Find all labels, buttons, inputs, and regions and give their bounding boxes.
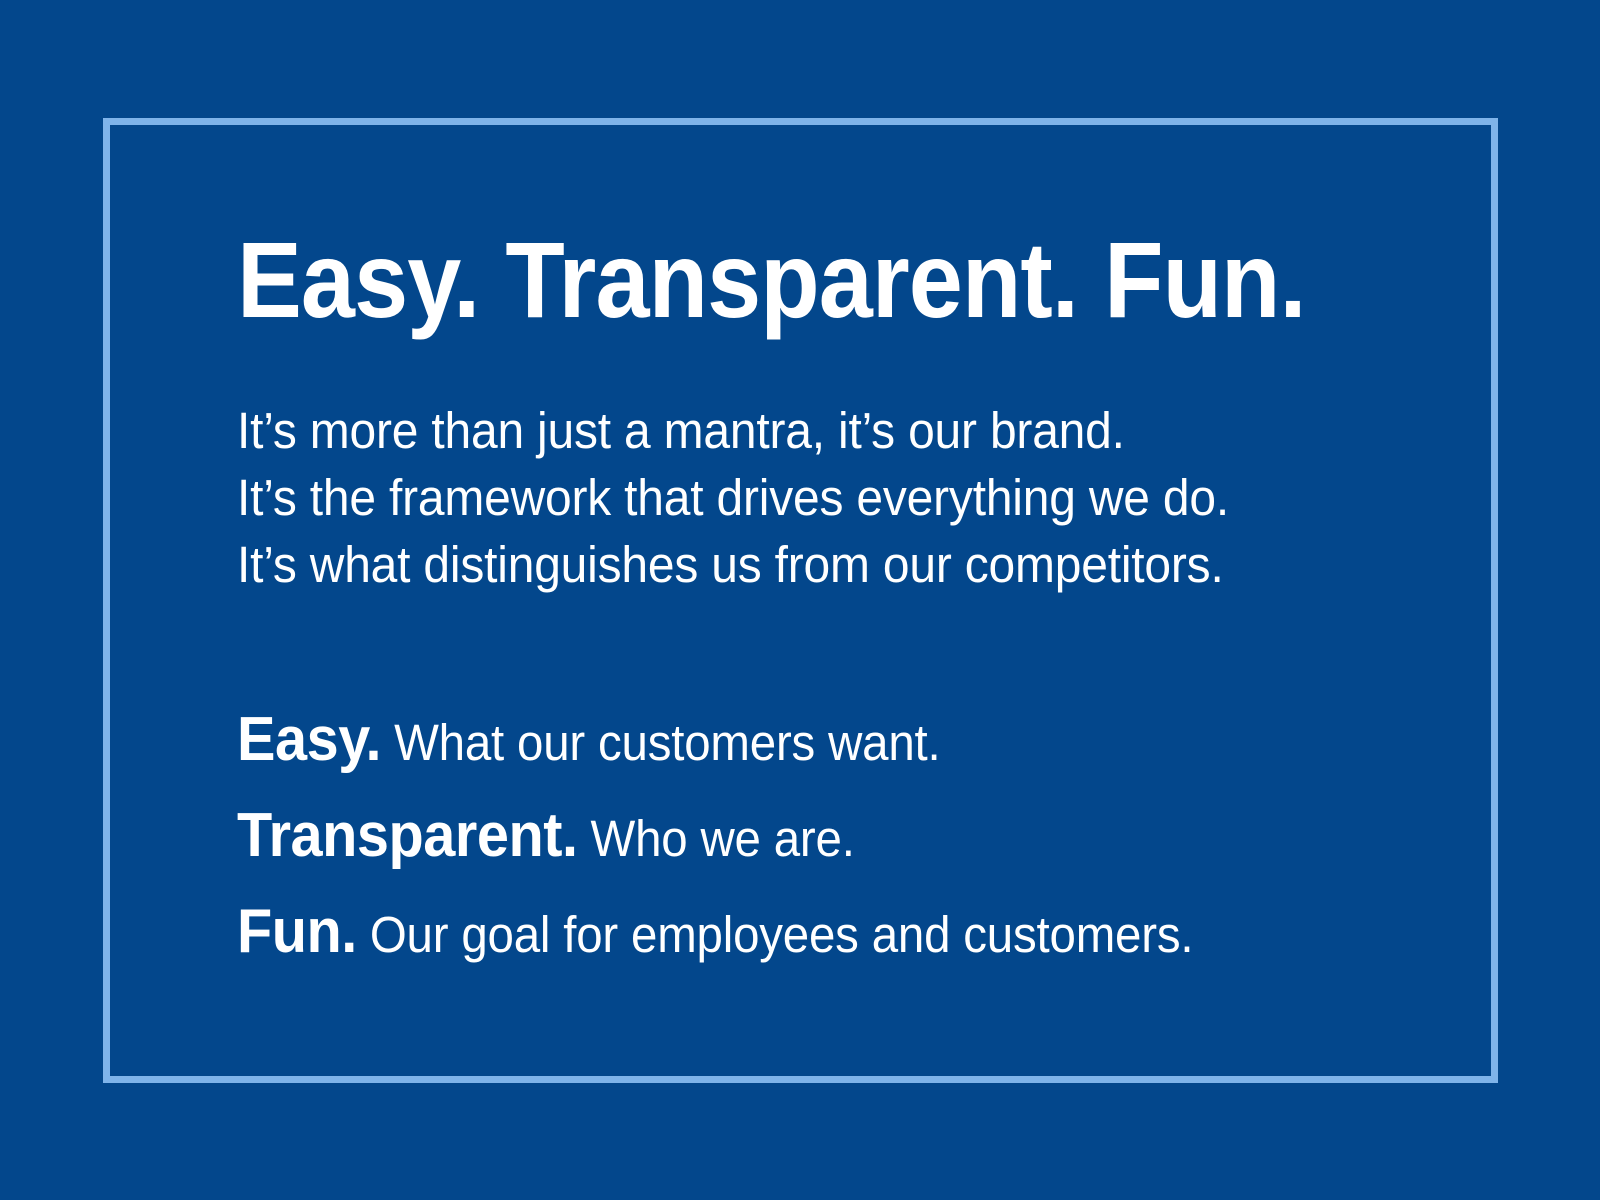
value-statement-transparent-text: Who we are. [577, 810, 854, 867]
value-statement-list: Easy. What our customers want. Transpare… [237, 700, 1334, 988]
page-title: Easy. Transparent. Fun. [237, 225, 1299, 335]
value-statement-fun-lead: Fun. [237, 897, 357, 966]
value-statement-easy: Easy. What our customers want. [237, 700, 1334, 796]
slide-canvas: Easy. Transparent. Fun. It’s more than j… [0, 0, 1600, 1200]
value-statement-easy-lead: Easy. [237, 705, 381, 774]
slide-content: Easy. Transparent. Fun. It’s more than j… [237, 225, 1417, 988]
value-statement-transparent-lead: Transparent. [237, 801, 577, 870]
intro-paragraph-line-1: It’s more than just a mantra, it’s our b… [237, 397, 1346, 464]
value-statement-fun-text: Our goal for employees and customers. [357, 906, 1194, 963]
value-statement-fun: Fun. Our goal for employees and customer… [237, 892, 1334, 988]
value-statement-easy-text: What our customers want. [381, 714, 940, 771]
intro-paragraph-line-2: It’s the framework that drives everythin… [237, 464, 1346, 531]
intro-paragraph-line-3: It’s what distinguishes us from our comp… [237, 531, 1346, 598]
intro-paragraph: It’s more than just a mantra, it’s our b… [237, 397, 1346, 598]
value-statement-transparent: Transparent. Who we are. [237, 796, 1334, 892]
